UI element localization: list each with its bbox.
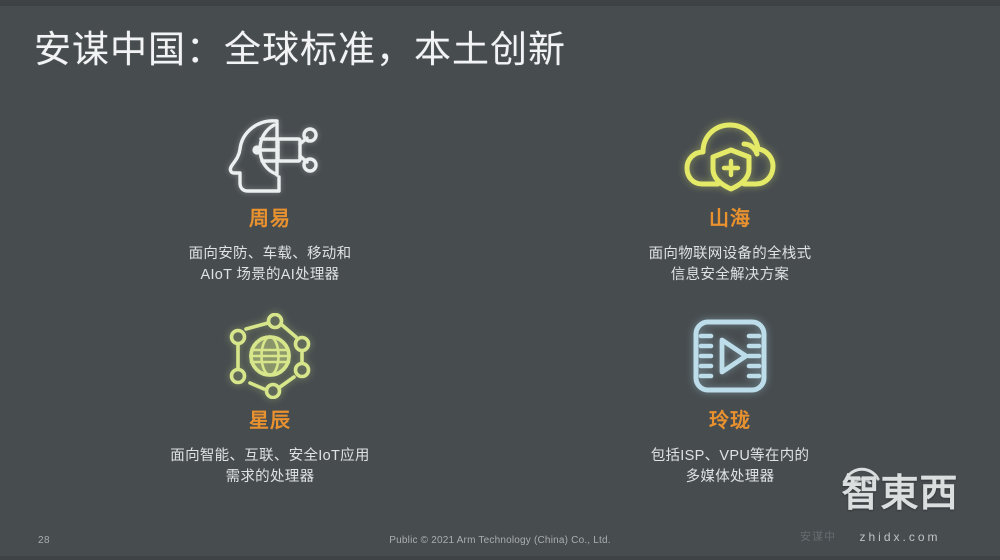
footer-copyright: Public © 2021 Arm Technology (China) Co.… <box>0 535 1000 546</box>
product-label: 山海 <box>709 206 751 232</box>
slide-top-edge-band <box>0 0 1000 6</box>
product-card-zhouyi[interactable]: 周易 面向安防、车载、移动和 AIoT 场景的AI处理器 <box>60 108 480 296</box>
product-description: 面向物联网设备的全栈式 信息安全解决方案 <box>649 244 812 286</box>
product-description-line2: 多媒体处理器 <box>651 467 810 488</box>
product-card-xingchen[interactable]: 星辰 面向智能、互联、安全IoT应用 需求的处理器 <box>60 310 480 498</box>
cloud-shield-icon <box>682 108 778 200</box>
page-title: 安谋中国：全球标准，本土创新 <box>34 26 566 74</box>
product-description-line2: 信息安全解决方案 <box>649 265 812 286</box>
product-description-line2: AIoT 场景的AI处理器 <box>189 265 352 286</box>
presentation-slide: 安谋中国：全球标准，本土创新 <box>0 0 1000 560</box>
product-label: 玲珑 <box>709 408 751 434</box>
product-label: 星辰 <box>249 408 291 434</box>
product-description: 包括ISP、VPU等在内的 多媒体处理器 <box>651 446 810 488</box>
film-play-icon <box>688 310 772 402</box>
product-label: 周易 <box>249 206 291 232</box>
ai-head-chip-icon <box>222 108 318 200</box>
product-description-line1: 面向智能、互联、安全IoT应用 <box>170 446 369 467</box>
product-description-line1: 面向物联网设备的全栈式 <box>649 244 812 265</box>
product-grid: 周易 面向安防、车载、移动和 AIoT 场景的AI处理器 <box>60 108 940 498</box>
product-description: 面向智能、互联、安全IoT应用 需求的处理器 <box>170 446 369 488</box>
product-card-linglong[interactable]: 玲珑 包括ISP、VPU等在内的 多媒体处理器 <box>520 310 940 498</box>
product-description-line1: 包括ISP、VPU等在内的 <box>651 446 810 467</box>
product-description-line2: 需求的处理器 <box>170 467 369 488</box>
product-description-line1: 面向安防、车载、移动和 <box>189 244 352 265</box>
product-card-shanhai[interactable]: 山海 面向物联网设备的全栈式 信息安全解决方案 <box>520 108 940 296</box>
slide-bottom-edge-band <box>0 556 1000 560</box>
product-description: 面向安防、车载、移动和 AIoT 场景的AI处理器 <box>189 244 352 286</box>
globe-network-icon <box>224 310 316 402</box>
